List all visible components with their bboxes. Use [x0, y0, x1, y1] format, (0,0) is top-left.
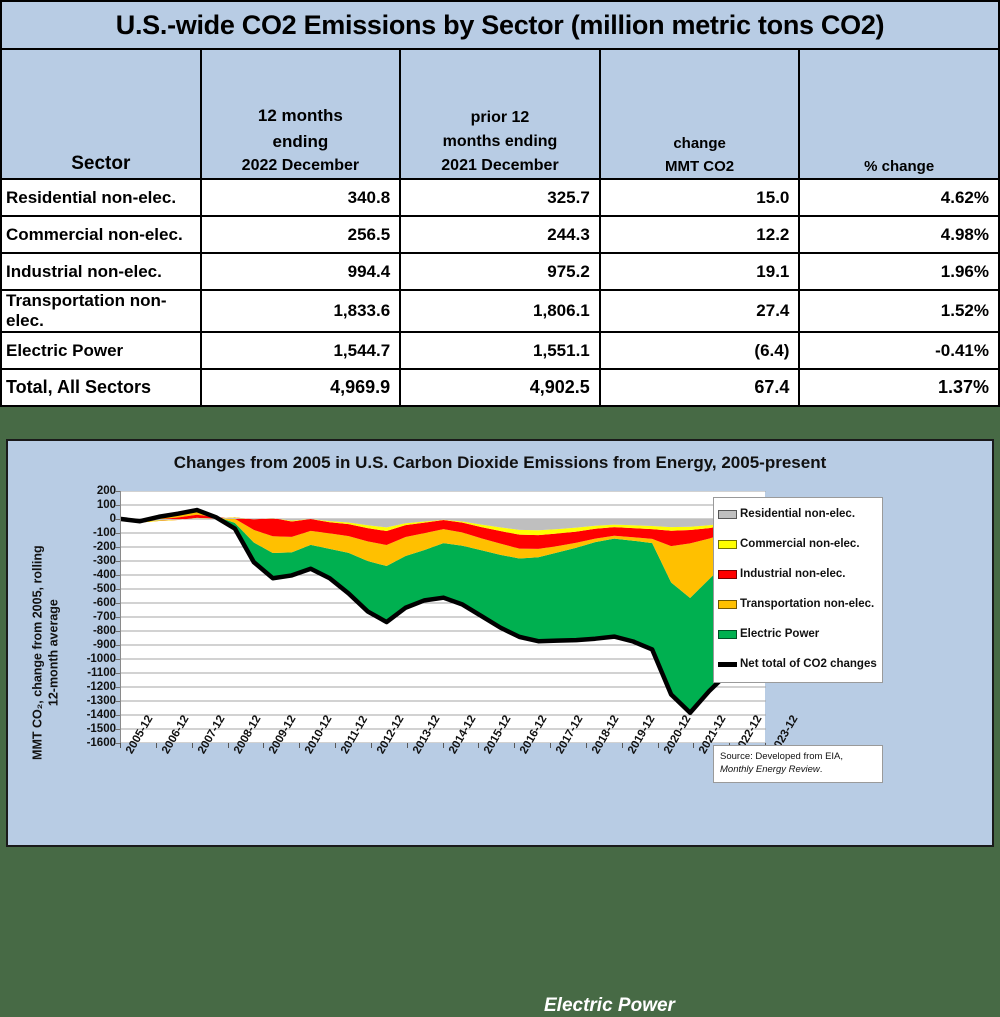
y-axis-tick-mark	[115, 687, 120, 688]
y-axis-tick-mark	[115, 547, 120, 548]
emissions-table: U.S.-wide CO2 Emissions by Sector (milli…	[0, 0, 1000, 407]
row-pct: 1.37%	[799, 369, 999, 406]
x-axis-tick-mark	[156, 743, 157, 748]
source-prefix: Source: Developed from EIA,	[720, 751, 843, 762]
column-header-pct-change: % change	[799, 49, 999, 179]
y-axis-tick-mark	[115, 603, 120, 604]
y-axis-tick-label: -1400	[87, 709, 116, 721]
x-axis-tick-mark	[192, 743, 193, 748]
page-title: U.S.-wide CO2 Emissions by Sector (milli…	[1, 1, 999, 49]
x-axis-tick-mark	[443, 743, 444, 748]
y-axis-tick-label: -700	[93, 611, 116, 623]
column-header-sector-label: Sector	[2, 150, 200, 179]
legend-label: Industrial non-elec.	[740, 568, 845, 580]
table-title-row: U.S.-wide CO2 Emissions by Sector (milli…	[1, 1, 999, 49]
x-axis-tick-mark	[371, 743, 372, 748]
area-chart-svg	[121, 491, 766, 743]
row-sector: Total, All Sectors	[1, 369, 201, 406]
y-axis-tick-label: -1600	[87, 737, 116, 749]
source-note: Source: Developed from EIA, Monthly Ener…	[713, 745, 883, 783]
row-pct: 4.98%	[799, 216, 999, 253]
x-axis-tick-mark	[228, 743, 229, 748]
column-header-change: change MMT CO2	[600, 49, 800, 179]
row-pct: 4.62%	[799, 179, 999, 216]
x-axis-tick-mark	[407, 743, 408, 748]
y-axis-ticks: 2001000-100-200-300-400-500-600-700-800-…	[64, 491, 116, 743]
source-publication: Monthly Energy Review	[720, 764, 820, 775]
row-prior: 975.2	[400, 253, 600, 290]
y-axis-tick-label: 200	[97, 485, 116, 497]
legend-item[interactable]: Residential non-elec.	[718, 508, 855, 520]
table-header-row: Sector 12 months ending 2022 December pr…	[1, 49, 999, 179]
column-header-current-line1: 12 months	[202, 103, 400, 129]
y-axis-tick-mark	[115, 659, 120, 660]
x-axis-tick-mark	[586, 743, 587, 748]
x-axis-ticks: 2005-122006-122007-122008-122009-122010-…	[120, 743, 765, 843]
column-header-current-line2: ending	[202, 129, 400, 155]
row-sector: Industrial non-elec.	[1, 253, 201, 290]
row-current: 1,544.7	[201, 332, 401, 369]
y-axis-tick-label: -300	[93, 555, 116, 567]
column-header-prior-line3: 2021 December	[401, 154, 599, 178]
table-body: Residential non-elec.340.8325.715.04.62%…	[1, 179, 999, 406]
y-axis-tick-label: -1300	[87, 695, 116, 707]
x-axis-tick-mark	[299, 743, 300, 748]
row-current: 1,833.6	[201, 290, 401, 332]
y-axis-tick-mark	[115, 533, 120, 534]
row-change: 12.2	[600, 216, 800, 253]
emissions-table-block: U.S.-wide CO2 Emissions by Sector (milli…	[0, 0, 1000, 407]
row-pct: 1.52%	[799, 290, 999, 332]
legend-item[interactable]: Electric Power	[718, 628, 819, 640]
row-change: 19.1	[600, 253, 800, 290]
plot-area	[120, 491, 765, 743]
table-row: Residential non-elec.340.8325.715.04.62%	[1, 179, 999, 216]
x-axis-tick-mark	[478, 743, 479, 748]
column-header-prior-line2: months ending	[401, 130, 599, 154]
x-axis-tick-mark	[335, 743, 336, 748]
y-axis-tick-mark	[115, 505, 120, 506]
y-axis-tick-label: -1100	[87, 667, 116, 679]
table-row: Electric Power1,544.71,551.1(6.4)-0.41%	[1, 332, 999, 369]
column-header-current-period: 12 months ending 2022 December	[201, 49, 401, 179]
legend-swatch-icon	[718, 540, 737, 549]
column-header-sector: Sector	[1, 49, 201, 179]
y-axis-tick-label: -800	[93, 625, 116, 637]
legend-swatch-icon	[718, 662, 737, 667]
y-axis-title: MMT CO₂, change from 2005, rolling 12-mo…	[30, 538, 61, 768]
x-axis-tick-mark	[263, 743, 264, 748]
row-pct: 1.96%	[799, 253, 999, 290]
y-axis-tick-mark	[115, 673, 120, 674]
y-axis-tick-mark	[115, 575, 120, 576]
legend-swatch-icon	[718, 600, 737, 609]
legend-item[interactable]: Industrial non-elec.	[718, 568, 845, 580]
row-prior: 4,902.5	[400, 369, 600, 406]
legend-label: Residential non-elec.	[740, 508, 855, 520]
y-axis-tick-mark	[115, 519, 120, 520]
source-suffix: .	[820, 764, 823, 775]
y-axis-tick-label: -1200	[87, 681, 116, 693]
row-pct: -0.41%	[799, 332, 999, 369]
row-current: 340.8	[201, 179, 401, 216]
legend-label: Electric Power	[740, 628, 819, 640]
chart-legend: Residential non-elec.Commercial non-elec…	[713, 497, 883, 683]
y-axis-tick-mark	[115, 645, 120, 646]
row-change: 15.0	[600, 179, 800, 216]
legend-item[interactable]: Net total of CO2 changes	[718, 658, 877, 670]
chart-panel: Changes from 2005 in U.S. Carbon Dioxide…	[6, 439, 994, 847]
y-axis-tick-label: -600	[93, 597, 116, 609]
column-header-pct-change-line1: % change	[800, 156, 998, 179]
x-axis-tick-mark	[693, 743, 694, 748]
chart-title: Changes from 2005 in U.S. Carbon Dioxide…	[8, 453, 992, 473]
y-axis-tick-label: -100	[93, 527, 116, 539]
table-row: Transportation non-elec.1,833.61,806.127…	[1, 290, 999, 332]
row-sector: Commercial non-elec.	[1, 216, 201, 253]
column-header-change-line1: change	[601, 133, 799, 156]
legend-label: Transportation non-elec.	[740, 598, 874, 610]
x-axis-tick-mark	[550, 743, 551, 748]
y-axis-tick-mark	[115, 631, 120, 632]
y-axis-tick-label: -1500	[87, 723, 116, 735]
legend-swatch-icon	[718, 510, 737, 519]
legend-label: Net total of CO2 changes	[740, 658, 877, 670]
y-axis-tick-label: -500	[93, 583, 116, 595]
row-prior: 244.3	[400, 216, 600, 253]
table-row: Commercial non-elec.256.5244.312.24.98%	[1, 216, 999, 253]
row-sector: Residential non-elec.	[1, 179, 201, 216]
x-axis-tick-mark	[658, 743, 659, 748]
row-current: 994.4	[201, 253, 401, 290]
row-change: 27.4	[600, 290, 800, 332]
row-change: 67.4	[600, 369, 800, 406]
column-header-current-line3: 2022 December	[202, 154, 400, 178]
x-axis-tick-mark	[622, 743, 623, 748]
legend-swatch-icon	[718, 570, 737, 579]
legend-item[interactable]: Commercial non-elec.	[718, 538, 860, 550]
row-prior: 325.7	[400, 179, 600, 216]
y-axis-tick-mark	[115, 743, 120, 744]
row-change: (6.4)	[600, 332, 800, 369]
column-header-change-line2: MMT CO2	[601, 156, 799, 179]
y-axis-tick-label: -1000	[87, 653, 116, 665]
y-axis-tick-label: -900	[93, 639, 116, 651]
y-axis-tick-mark	[115, 715, 120, 716]
y-axis-tick-label: -400	[93, 569, 116, 581]
y-axis-tick-label: 100	[97, 499, 116, 511]
table-row: Total, All Sectors4,969.94,902.567.41.37…	[1, 369, 999, 406]
y-axis-tick-mark	[115, 491, 120, 492]
legend-label: Commercial non-elec.	[740, 538, 860, 550]
column-header-prior-line1: prior 12	[401, 106, 599, 130]
row-prior: 1,551.1	[400, 332, 600, 369]
electric-power-annotation: Electric Power	[544, 995, 675, 1017]
y-axis-tick-mark	[115, 589, 120, 590]
legend-item[interactable]: Transportation non-elec.	[718, 598, 874, 610]
legend-swatch-icon	[718, 630, 737, 639]
row-sector: Electric Power	[1, 332, 201, 369]
y-axis-tick-mark	[115, 617, 120, 618]
row-sector: Transportation non-elec.	[1, 290, 201, 332]
x-axis-tick-mark	[120, 743, 121, 748]
row-current: 256.5	[201, 216, 401, 253]
row-current: 4,969.9	[201, 369, 401, 406]
x-axis-tick-mark	[514, 743, 515, 748]
y-axis-tick-mark	[115, 729, 120, 730]
column-header-prior-period: prior 12 months ending 2021 December	[400, 49, 600, 179]
y-axis-tick-label: -200	[93, 541, 116, 553]
table-row: Industrial non-elec.994.4975.219.11.96%	[1, 253, 999, 290]
row-prior: 1,806.1	[400, 290, 600, 332]
y-axis-tick-mark	[115, 701, 120, 702]
y-axis-tick-mark	[115, 561, 120, 562]
stacked-areas	[121, 510, 766, 713]
